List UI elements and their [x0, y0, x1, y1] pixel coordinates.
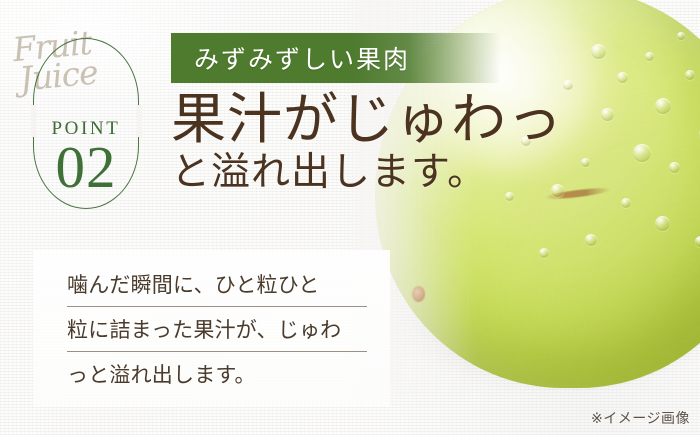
water-droplet: [539, 248, 549, 258]
water-droplet: [655, 216, 670, 231]
headline-line-1: 果汁がじゅわっ: [171, 92, 591, 148]
water-droplet: [563, 80, 573, 90]
banner-label: みずみずしい果肉: [171, 40, 410, 76]
water-droplet: [601, 108, 614, 121]
water-droplet: [621, 198, 631, 208]
water-droplet: [591, 44, 606, 59]
body-copy-line: 粒に詰まった果汁が、じゅわ: [67, 306, 367, 351]
water-droplet: [669, 162, 680, 173]
grape-stem-navel: [412, 286, 425, 302]
water-droplet: [617, 72, 628, 83]
grape-drop-shadow: [393, 248, 700, 388]
body-copy-card: 噛んだ瞬間に、ひと粒ひと 粒に詰まった果汁が、じゅわ っと溢れ出します。: [33, 250, 390, 407]
water-droplet: [585, 234, 597, 246]
water-droplet: [655, 98, 671, 114]
water-droplet: [645, 52, 654, 61]
point-badge: Fruit Juice POINT 02: [20, 22, 155, 217]
headline: 果汁がじゅわっ と溢れ出します。: [171, 92, 591, 196]
headline-line-2: と溢れ出します。: [171, 150, 591, 196]
image-disclaimer: ※イメージ画像: [591, 408, 690, 428]
badge-number: 02: [33, 138, 139, 197]
section-banner: みずみずしい果肉: [171, 33, 501, 83]
water-droplet: [633, 144, 651, 162]
body-copy-lines: 噛んだ瞬間に、ひと粒ひと 粒に詰まった果汁が、じゅわ っと溢れ出します。: [67, 261, 367, 396]
promotional-banner: みずみずしい果肉 果汁がじゅわっ と溢れ出します。 Fruit Juice PO…: [0, 0, 700, 435]
water-droplet: [685, 70, 695, 80]
body-copy-line: っと溢れ出します。: [67, 351, 367, 396]
water-droplet: [677, 32, 685, 40]
water-droplet: [695, 236, 700, 247]
body-copy-line: 噛んだ瞬間に、ひと粒ひと: [67, 261, 367, 306]
